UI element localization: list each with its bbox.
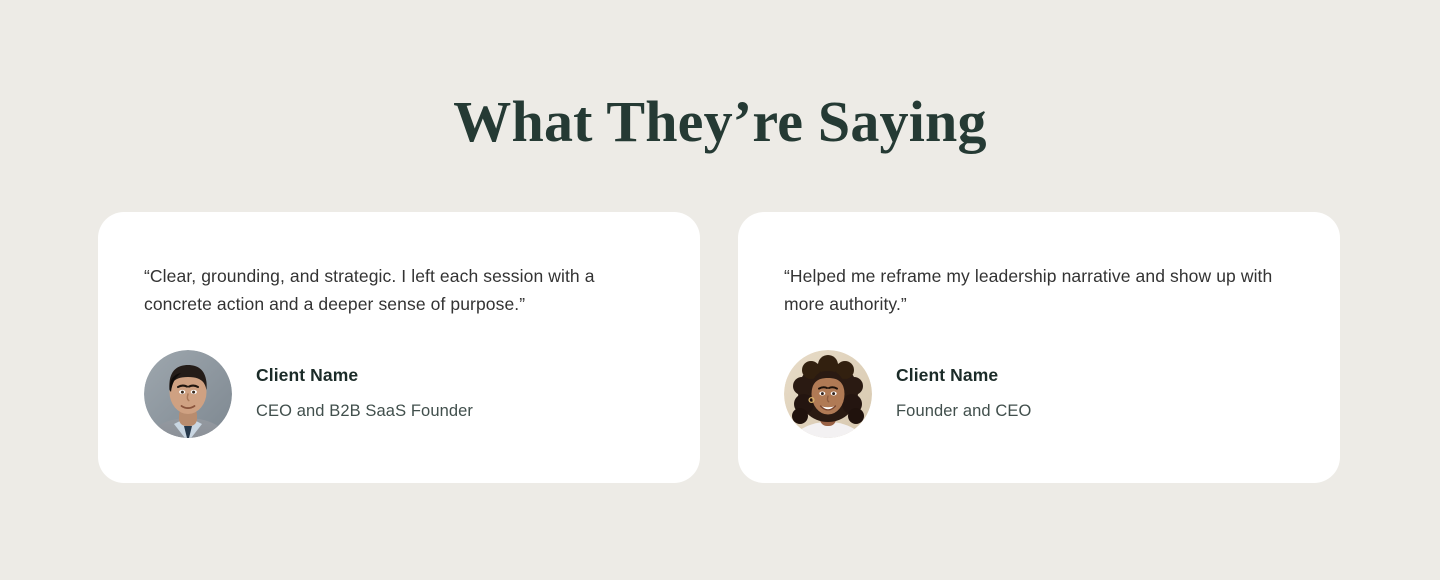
author-role: CEO and B2B SaaS Founder bbox=[256, 399, 473, 423]
testimonials-section: What They’re Saying “Clear, grounding, a… bbox=[0, 0, 1440, 580]
testimonial-quote: “Clear, grounding, and strategic. I left… bbox=[144, 262, 644, 318]
page-title: What They’re Saying bbox=[0, 92, 1440, 153]
author-name: Client Name bbox=[256, 363, 473, 387]
author-details: Client Name CEO and B2B SaaS Founder bbox=[256, 363, 473, 425]
avatar-photo-man-gray-sweater bbox=[144, 350, 232, 438]
author-name: Client Name bbox=[896, 363, 1031, 387]
testimonial-quote: “Helped me reframe my leadership narrati… bbox=[784, 262, 1284, 318]
testimonial-card-list: “Clear, grounding, and strategic. I left… bbox=[98, 212, 1343, 483]
testimonial-author: Client Name Founder and CEO bbox=[784, 350, 1294, 438]
author-role: Founder and CEO bbox=[896, 399, 1031, 423]
avatar bbox=[784, 350, 872, 438]
avatar bbox=[144, 350, 232, 438]
avatar-photo-woman-curly-hair bbox=[784, 350, 872, 438]
testimonial-author: Client Name CEO and B2B SaaS Founder bbox=[144, 350, 654, 438]
testimonial-card: “Helped me reframe my leadership narrati… bbox=[738, 212, 1340, 483]
testimonial-card: “Clear, grounding, and strategic. I left… bbox=[98, 212, 700, 483]
author-details: Client Name Founder and CEO bbox=[896, 363, 1031, 425]
